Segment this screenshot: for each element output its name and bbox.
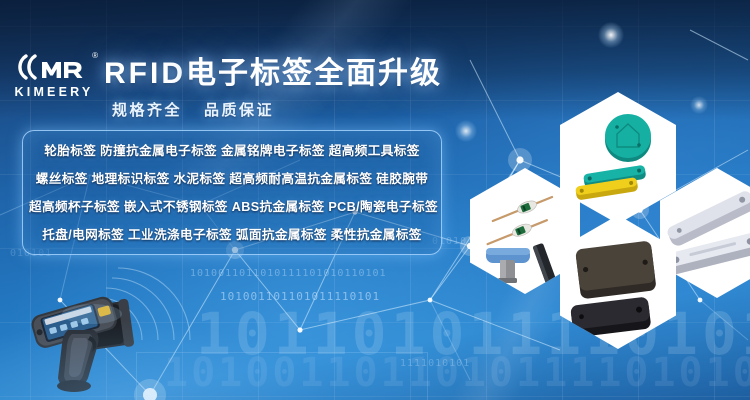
registered-trademark-icon: ® <box>92 51 98 60</box>
product-category-panel: 轮胎标签 防撞抗金属电子标签 金属铭牌电子标签 超高频工具标签 螺丝标签 地理标… <box>22 130 442 255</box>
kimeery-logo-icon: ® <box>12 52 96 82</box>
headline-latin: RFID <box>104 57 186 90</box>
product-category-row: 超高频杯子标签 嵌入式不锈钢标签 ABS抗金属标签 PCB/陶瓷电子标签 <box>29 193 435 221</box>
page-title: RFID电子标签全面升级 <box>104 48 442 92</box>
binary-decoration: 1010011011010111101010110101 <box>190 268 387 279</box>
brand-logo[interactable]: ® KIMEERY <box>12 52 96 99</box>
headline-cjk: 电子标签全面升级 <box>186 57 442 90</box>
product-category-row: 螺丝标签 地理标识标签 水泥标签 超高频耐高温抗金属标签 硅胶腕带 <box>29 165 435 193</box>
background-bottom-glow <box>0 280 420 400</box>
product-category-row: 托盘/电网标签 工业洗涤电子标签 弧面抗金属标签 柔性抗金属标签 <box>29 221 435 249</box>
subtitle-right: 品质保证 <box>204 102 274 119</box>
rfid-promo-banner: 1010011011010111101010110101101011110101… <box>0 0 750 400</box>
subtitle-left: 规格齐全 <box>112 102 182 119</box>
page-subtitle: 规格齐全品质保证 <box>112 99 274 120</box>
brand-wordmark: KIMEERY <box>12 85 96 99</box>
product-category-row: 轮胎标签 防撞抗金属电子标签 金属铭牌电子标签 超高频工具标签 <box>29 137 435 165</box>
